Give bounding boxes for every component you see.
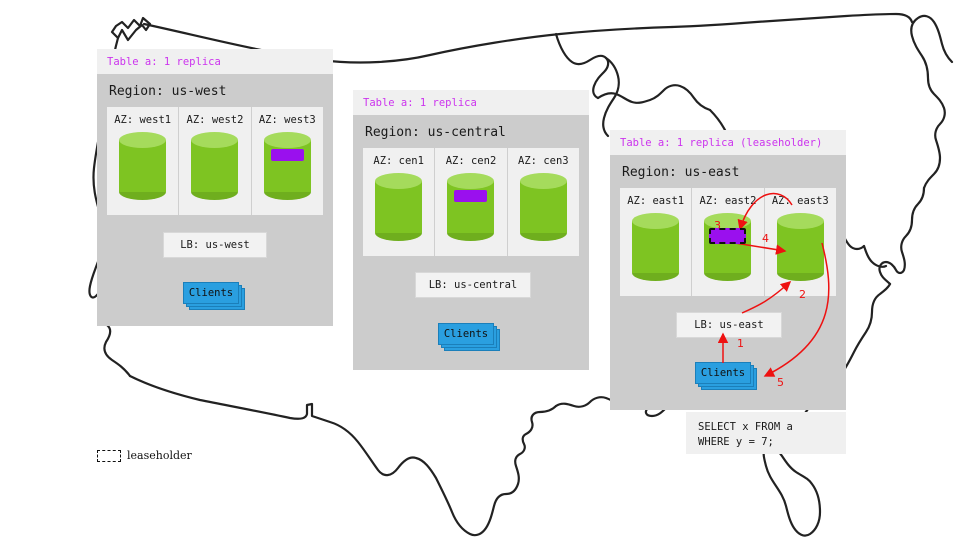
az-label-east2: AZ: east2 [692,195,763,207]
az-label-cen2: AZ: cen2 [435,155,506,167]
region-panel-us-east: Table a: 1 replica (leaseholder) Region:… [610,130,846,410]
az-label-west3: AZ: west3 [252,114,323,126]
az-row-us-west: AZ: west1 AZ: west2 AZ: west3 [107,107,323,215]
node-cylinder-west1[interactable] [119,132,166,200]
panel-header-us-east: Table a: 1 replica (leaseholder) [610,130,846,155]
load-balancer-us-east[interactable]: LB: us-east [676,312,782,338]
load-balancer-us-central[interactable]: LB: us-central [415,272,531,298]
node-cylinder-cen2[interactable] [447,173,494,241]
cylinder-top [264,132,311,148]
cylinder-top [777,213,824,229]
clients-us-central[interactable]: Clients [438,323,494,345]
legend-label: leaseholder [127,449,192,462]
node-cylinder-east2[interactable] [704,213,751,281]
node-cylinder-east3[interactable] [777,213,824,281]
az-cell-east2[interactable]: AZ: east2 [692,188,764,296]
clients-label-us-west: Clients [183,282,239,304]
legend: leaseholder [97,449,192,462]
replica-badge-west3 [271,149,304,161]
node-cylinder-cen3[interactable] [520,173,567,241]
panel-header-us-central: Table a: 1 replica [353,90,589,115]
az-cell-east3[interactable]: AZ: east3 [765,188,836,296]
panel-header-us-west: Table a: 1 replica [97,49,333,74]
clients-label-us-central: Clients [438,323,494,345]
step-number-5: 5 [777,376,784,389]
az-label-cen1: AZ: cen1 [363,155,434,167]
region-title-us-west: Region: us-west [97,74,333,107]
az-label-east1: AZ: east1 [620,195,691,207]
load-balancer-us-west[interactable]: LB: us-west [163,232,267,258]
step-number-4: 4 [762,232,769,245]
cylinder-top [632,213,679,229]
az-cell-cen2[interactable]: AZ: cen2 [435,148,507,256]
node-cylinder-west3[interactable] [264,132,311,200]
az-row-us-central: AZ: cen1 AZ: cen2 AZ: cen3 [363,148,579,256]
az-cell-west2[interactable]: AZ: west2 [179,107,251,215]
cylinder-top [520,173,567,189]
az-cell-east1[interactable]: AZ: east1 [620,188,692,296]
az-cell-west3[interactable]: AZ: west3 [252,107,323,215]
cylinder-top [375,173,422,189]
replica-badge-leaseholder-east2 [709,228,746,244]
step-number-1: 1 [737,337,744,350]
az-cell-cen3[interactable]: AZ: cen3 [508,148,579,256]
region-panel-us-central: Table a: 1 replica Region: us-central AZ… [353,90,589,370]
az-cell-west1[interactable]: AZ: west1 [107,107,179,215]
node-cylinder-west2[interactable] [191,132,238,200]
az-label-east3: AZ: east3 [765,195,836,207]
region-panel-us-west: Table a: 1 replica Region: us-west AZ: w… [97,49,333,326]
az-label-cen3: AZ: cen3 [508,155,579,167]
node-cylinder-east1[interactable] [632,213,679,281]
diagram-canvas: Table a: 1 replica Region: us-west AZ: w… [0,0,960,540]
clients-label-us-east: Clients [695,362,751,384]
clients-us-east[interactable]: Clients [695,362,751,384]
cylinder-top [119,132,166,148]
region-title-us-east: Region: us-east [610,155,846,188]
replica-badge-cen2 [454,190,487,202]
step-number-2: 2 [799,288,806,301]
az-cell-cen1[interactable]: AZ: cen1 [363,148,435,256]
clients-us-west[interactable]: Clients [183,282,239,304]
dashed-rectangle-icon [97,450,121,462]
az-label-west2: AZ: west2 [179,114,250,126]
az-label-west1: AZ: west1 [107,114,178,126]
az-row-us-east: AZ: east1 AZ: east2 AZ: east3 [620,188,836,296]
node-cylinder-cen1[interactable] [375,173,422,241]
region-title-us-central: Region: us-central [353,115,589,148]
sql-query-box: SELECT x FROM a WHERE y = 7; [686,412,846,454]
